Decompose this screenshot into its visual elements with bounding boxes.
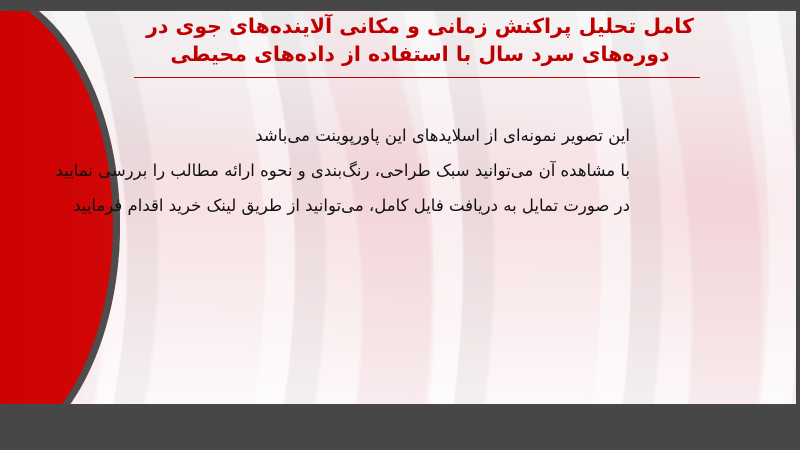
- presentation-slide: کامل تحلیل پراکنش زمانی و مکانی آلاینده‌…: [0, 0, 800, 450]
- title-underline-rule: [134, 77, 700, 78]
- dark-bottom-band: [0, 404, 800, 450]
- dark-right-band: [796, 0, 800, 450]
- body-line-1: این تصویر نمونه‌ای از اسلایدهای این پاور…: [55, 118, 630, 153]
- dark-top-band: [0, 0, 800, 11]
- body-line-3: در صورت تمایل به دریافت فایل کامل، می‌تو…: [55, 188, 630, 223]
- body-line-2: با مشاهده آن می‌توانید سبک طراحی، رنگ‌بن…: [55, 153, 630, 188]
- title-line-2: دوره‌های سرد سال با استفاده از داده‌های …: [120, 40, 720, 68]
- title-line-1: کامل تحلیل پراکنش زمانی و مکانی آلاینده‌…: [120, 12, 720, 40]
- slide-title: کامل تحلیل پراکنش زمانی و مکانی آلاینده‌…: [120, 12, 720, 68]
- slide-body-text: این تصویر نمونه‌ای از اسلایدهای این پاور…: [55, 118, 630, 223]
